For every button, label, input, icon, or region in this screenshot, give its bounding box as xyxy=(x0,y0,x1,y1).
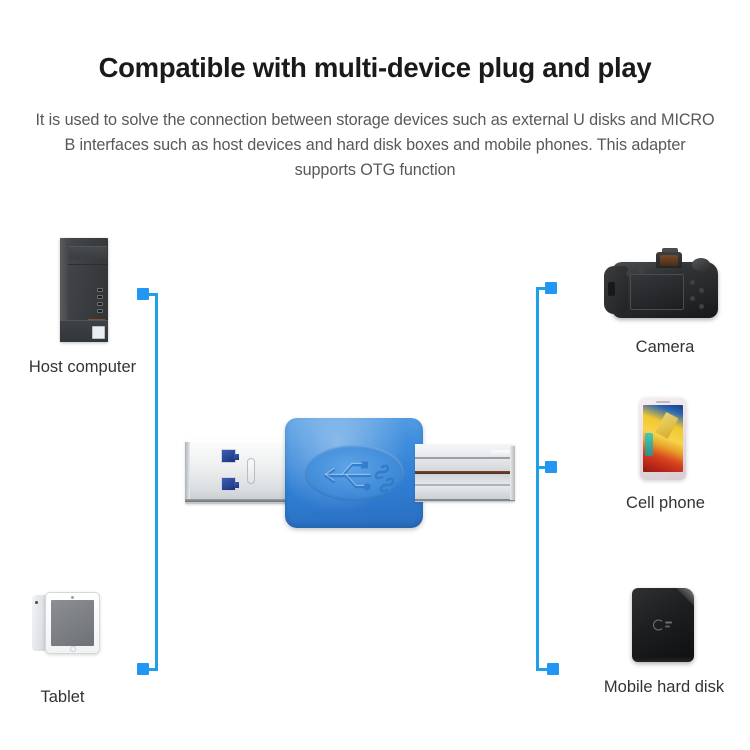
usb-superspeed-trident-icon xyxy=(312,453,396,493)
right-vertical-wire xyxy=(536,287,539,671)
camera-lcd-screen xyxy=(630,274,684,310)
device-label-cell-phone: Cell phone xyxy=(588,494,743,513)
left-vertical-wire xyxy=(155,293,158,671)
tower-drive-bay xyxy=(69,246,107,259)
tower-front-panel xyxy=(92,326,105,339)
tablet-screen xyxy=(51,600,94,646)
usb-a-top-edge xyxy=(185,440,295,442)
adapter-shell xyxy=(285,418,423,528)
product-infographic: Compatible with multi-device plug and pl… xyxy=(0,0,750,750)
smartphone-icon xyxy=(640,398,686,480)
micro-b-tip xyxy=(510,446,515,500)
tablet-frame xyxy=(45,592,100,654)
phone-wallpaper-accent xyxy=(645,433,653,456)
device-label-camera: Camera xyxy=(590,338,740,357)
usb-a-contact-pin xyxy=(221,449,236,463)
usb-a-bottom-edge xyxy=(185,499,295,502)
camera-mode-dial xyxy=(692,258,710,271)
right-top-node xyxy=(545,282,557,294)
hdd-logo-bar xyxy=(665,626,670,628)
camera-button xyxy=(690,280,695,285)
tower-port xyxy=(97,309,103,313)
page-title: Compatible with multi-device plug and pl… xyxy=(0,52,750,84)
external-hard-drive-icon xyxy=(632,588,694,662)
tower-front-ports xyxy=(97,288,103,316)
page-subtitle: It is used to solve the connection betwe… xyxy=(35,108,715,183)
phone-screen xyxy=(643,405,683,472)
device-label-host-computer: Host computer xyxy=(0,358,165,377)
hdd-base-edge xyxy=(634,657,692,662)
tower-port xyxy=(97,295,103,299)
dslr-camera-icon xyxy=(604,248,726,326)
tower-port xyxy=(97,288,103,292)
camera-button xyxy=(699,288,704,293)
tablet-icon xyxy=(32,592,100,654)
tower-port xyxy=(97,302,103,306)
tower-seam xyxy=(68,264,108,265)
micro-b-band xyxy=(415,499,515,501)
phone-earpiece xyxy=(656,401,670,403)
camera-button xyxy=(638,268,644,274)
usb-a-tip xyxy=(185,442,190,500)
right-bottom-node xyxy=(547,663,559,675)
camera-port-cover xyxy=(608,282,615,296)
micro-b-band xyxy=(415,457,515,459)
tablet-camera-lens xyxy=(35,601,38,604)
tablet-home-button xyxy=(70,646,76,652)
micro-b-male-connector xyxy=(415,444,515,502)
camera-button xyxy=(699,304,704,309)
device-label-tablet: Tablet xyxy=(0,688,125,707)
camera-eyecup xyxy=(660,255,678,266)
usb-otg-adapter xyxy=(185,418,515,528)
micro-b-contact-band xyxy=(415,471,515,474)
camera-button xyxy=(626,270,632,276)
hdd-brand-logo xyxy=(653,620,673,631)
device-label-mobile-hard-disk: Mobile hard disk xyxy=(578,678,750,697)
left-bottom-node xyxy=(137,663,149,675)
phone-home-button xyxy=(658,475,668,479)
usb-a-male-connector xyxy=(185,440,295,504)
micro-b-band xyxy=(415,484,515,486)
phone-wallpaper-highlight xyxy=(655,412,678,439)
hdd-bevel-corner xyxy=(676,588,694,606)
camera-button xyxy=(690,296,695,301)
desktop-tower-icon xyxy=(60,238,108,342)
hdd-logo-ring xyxy=(653,620,664,631)
tablet-front-camera-icon xyxy=(71,596,74,599)
left-bottom-stub xyxy=(148,668,158,671)
right-mid-node xyxy=(545,461,557,473)
usb-a-contact-pin xyxy=(221,477,236,491)
usb-a-alignment-slot xyxy=(247,458,255,484)
hdd-logo-bar xyxy=(665,622,672,624)
